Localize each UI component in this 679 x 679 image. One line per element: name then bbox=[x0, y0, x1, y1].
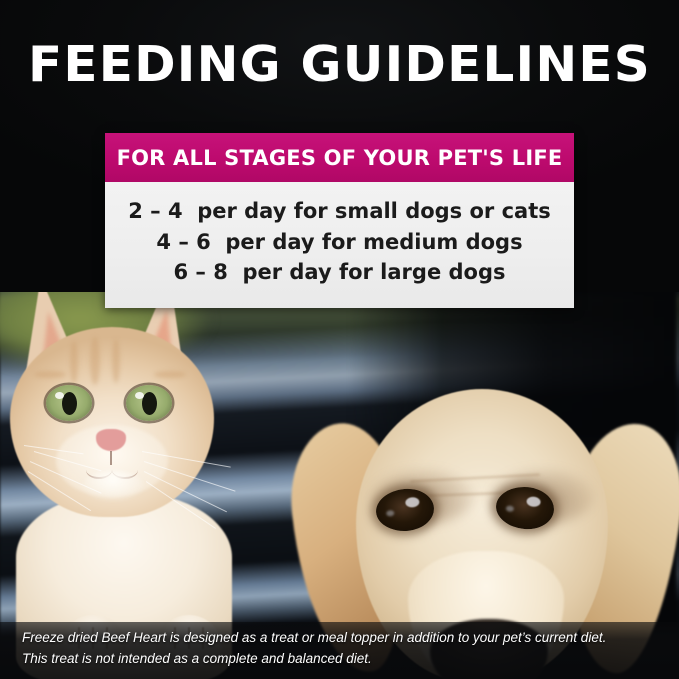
cat-forehead-stripe bbox=[90, 337, 100, 385]
guideline-large-dogs: 6 – 8 per day for large dogs bbox=[105, 257, 574, 288]
disclaimer-line-1: Freeze dried Beef Heart is designed as a… bbox=[0, 628, 679, 649]
cat-forehead-stripe bbox=[70, 341, 78, 383]
card-body: 2 – 4 per day for small dogs or cats 4 –… bbox=[105, 182, 574, 308]
cat-cheek-stripe bbox=[34, 371, 66, 378]
cat-eye-highlight bbox=[135, 392, 144, 399]
cream-kitten bbox=[0, 285, 274, 679]
dog-eye-highlight bbox=[506, 505, 514, 512]
pet-photo bbox=[0, 285, 679, 679]
guideline-small-dogs-or-cats: 2 – 4 per day for small dogs or cats bbox=[105, 196, 574, 227]
dog-eye-highlight bbox=[405, 497, 420, 508]
cat-eye-left bbox=[46, 385, 92, 421]
card-banner: FOR ALL STAGES OF YOUR PET'S LIFE bbox=[105, 133, 574, 182]
cat-forehead-stripe bbox=[112, 339, 120, 383]
cat-chin bbox=[82, 471, 144, 501]
disclaimer-overlay: Freeze dried Beef Heart is designed as a… bbox=[0, 622, 679, 679]
product-image-canvas: FEEDING GUIDELINES FOR ALL STAGES OF YOU… bbox=[0, 0, 679, 679]
cat-eye-right bbox=[126, 385, 172, 421]
dog-eye-highlight bbox=[526, 496, 541, 507]
disclaimer-line-2: This treat is not intended as a complete… bbox=[0, 649, 679, 670]
cat-cheek-stripe bbox=[154, 371, 186, 378]
card-banner-label: FOR ALL STAGES OF YOUR PET'S LIFE bbox=[117, 146, 563, 170]
cat-eye-highlight bbox=[55, 392, 64, 399]
guideline-medium-dogs: 4 – 6 per day for medium dogs bbox=[105, 227, 574, 258]
dog-eye-highlight bbox=[386, 510, 394, 517]
page-title: FEEDING GUIDELINES bbox=[0, 40, 679, 89]
feeding-guidelines-card: FOR ALL STAGES OF YOUR PET'S LIFE 2 – 4 … bbox=[105, 133, 574, 308]
